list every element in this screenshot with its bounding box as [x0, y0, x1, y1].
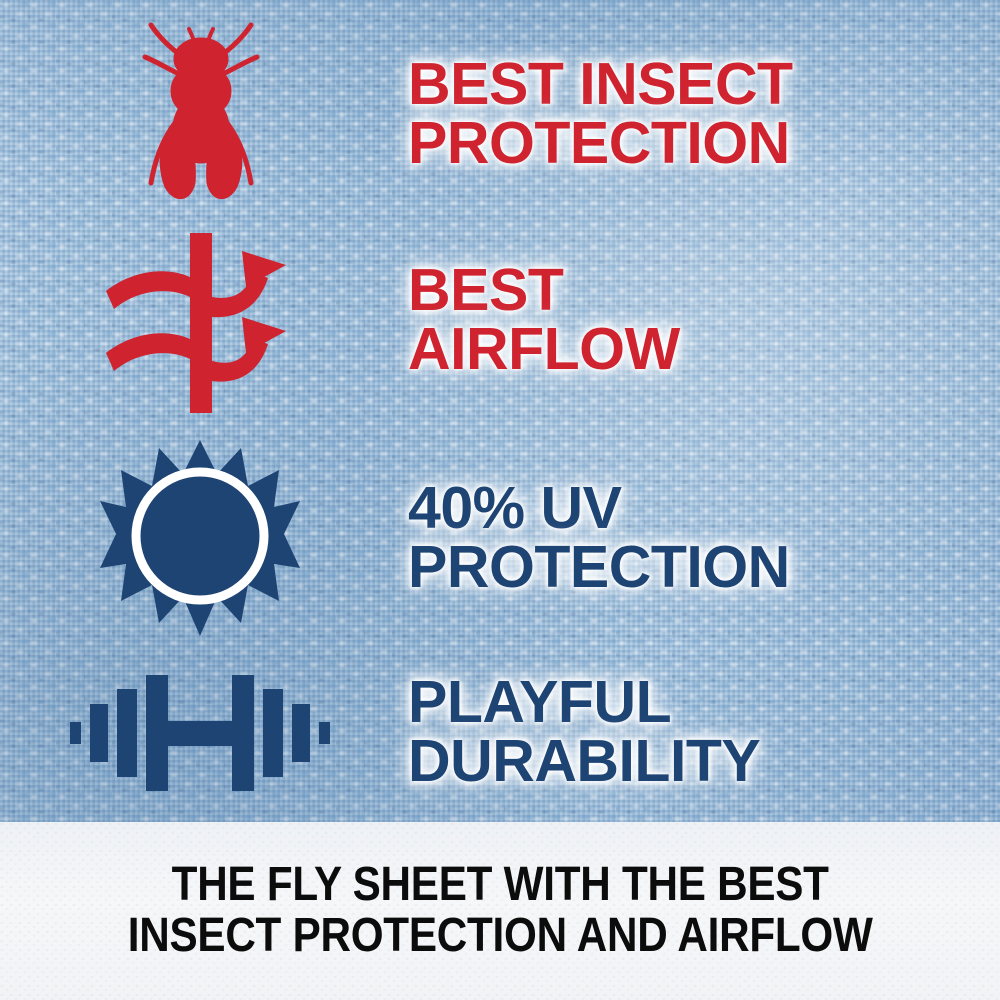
feature-label-airflow: BEST AIRFLOW — [408, 261, 1000, 379]
feature-list: BEST INSECT PROTECTION — [0, 0, 1000, 822]
feature-label-uv-protection: 40% UV PROTECTION — [408, 479, 1000, 597]
feature-row-durability: PLAYFUL DURABILITY — [0, 650, 1000, 814]
feature-text-cell: 40% UV PROTECTION — [400, 479, 1000, 597]
feature-text-cell: PLAYFUL DURABILITY — [400, 673, 1000, 791]
feature-row-uv-protection: 40% UV PROTECTION — [0, 432, 1000, 644]
feature-text-cell: BEST AIRFLOW — [400, 261, 1000, 379]
feature-label-durability: PLAYFUL DURABILITY — [408, 673, 1000, 791]
feature-icon-cell — [0, 225, 400, 415]
feature-text-cell: BEST INSECT PROTECTION — [400, 55, 1000, 173]
feature-row-airflow: BEST AIRFLOW — [0, 222, 1000, 418]
sun-uv-icon — [100, 438, 300, 638]
airflow-through-barrier-icon — [90, 225, 310, 415]
feature-icon-cell — [0, 667, 400, 797]
feature-icon-cell — [0, 438, 400, 638]
product-feature-poster: BEST INSECT PROTECTION — [0, 0, 1000, 1000]
fly-icon — [125, 19, 275, 209]
caption-panel: THE FLY SHEET WITH THE BEST INSECT PROTE… — [0, 822, 1000, 1000]
feature-icon-cell — [0, 19, 400, 209]
feature-row-insect-protection: BEST INSECT PROTECTION — [0, 16, 1000, 212]
caption-headline: THE FLY SHEET WITH THE BEST INSECT PROTE… — [128, 860, 873, 962]
feature-label-insect-protection: BEST INSECT PROTECTION — [408, 55, 1000, 173]
dumbbell-icon — [70, 667, 330, 797]
